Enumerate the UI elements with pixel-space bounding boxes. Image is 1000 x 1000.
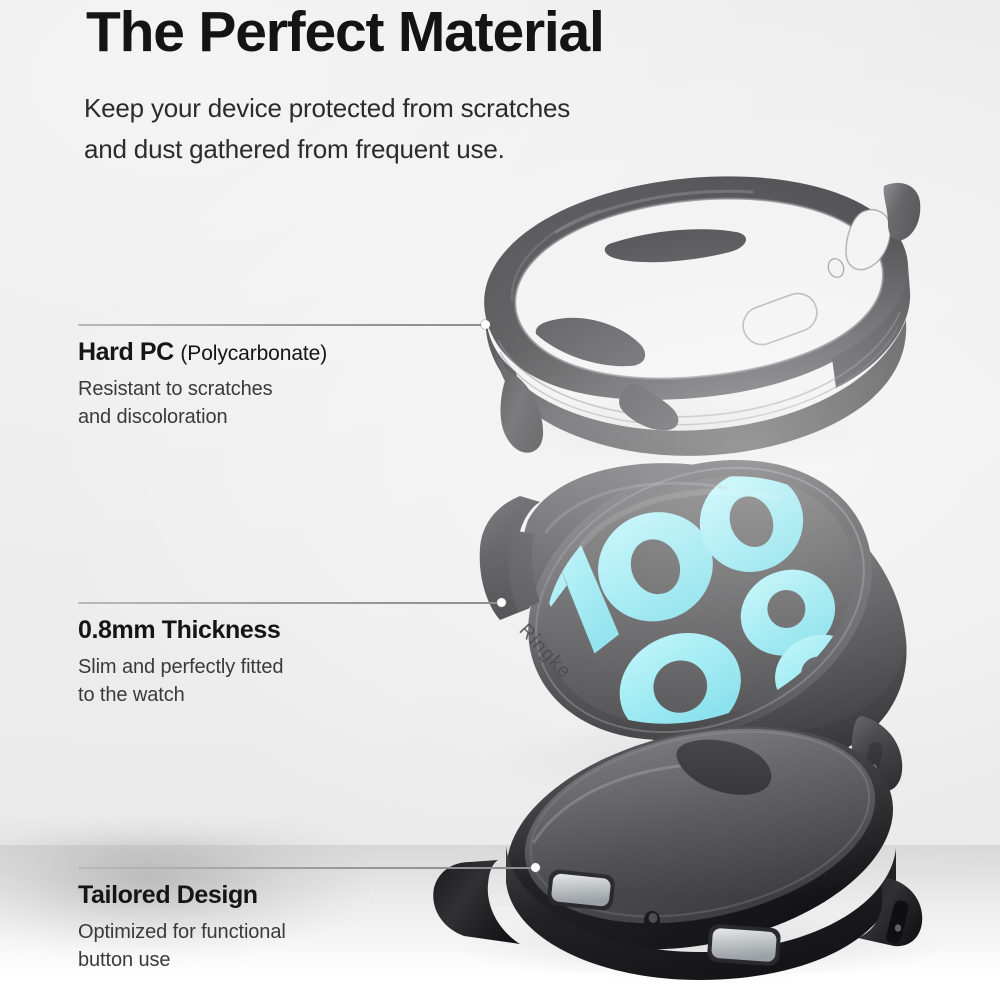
feature-3-desc-line-2: button use — [78, 947, 286, 975]
product-feature-image: Ringke The Perfect Material Keep your de… — [0, 0, 1000, 1000]
feature-2-desc-line-2: to the watch — [78, 682, 283, 710]
feature-2-desc-line-1: Slim and perfectly fitted — [78, 654, 283, 682]
feature-1-title: Hard PC (Polycarbonate) — [78, 338, 327, 367]
leader-dot-3 — [531, 863, 540, 872]
feature-2-title-main: 0.8mm Thickness — [78, 616, 280, 644]
feature-2-title: 0.8mm Thickness — [78, 616, 283, 645]
feature-3-description: Optimized for functional button use — [78, 919, 286, 974]
feature-3-title-main: Tailored Design — [78, 881, 258, 909]
feature-3-title: Tailored Design — [78, 881, 286, 910]
feature-3-desc-line-1: Optimized for functional — [78, 919, 286, 947]
leader-dot-2 — [497, 598, 506, 607]
feature-1-title-suffix: (Polycarbonate) — [180, 342, 327, 365]
page-title: The Perfect Material — [86, 2, 604, 64]
feature-1-title-main: Hard PC — [78, 338, 174, 366]
page-subtitle: Keep your device protected from scratche… — [84, 88, 570, 170]
feature-2-description: Slim and perfectly fitted to the watch — [78, 654, 283, 709]
feature-hard-pc: Hard PC (Polycarbonate) Resistant to scr… — [78, 324, 327, 431]
feature-1-desc-line-1: Resistant to scratches — [78, 376, 327, 404]
page-subtitle-line-2: and dust gathered from frequent use. — [84, 129, 570, 170]
feature-thickness: 0.8mm Thickness Slim and perfectly fitte… — [78, 602, 283, 709]
leader-dot-1 — [481, 320, 490, 329]
feature-tailored-design: Tailored Design Optimized for functional… — [78, 867, 286, 974]
feature-1-desc-line-2: and discoloration — [78, 404, 327, 432]
page-subtitle-line-1: Keep your device protected from scratche… — [84, 88, 570, 129]
feature-1-description: Resistant to scratches and discoloration — [78, 376, 327, 431]
